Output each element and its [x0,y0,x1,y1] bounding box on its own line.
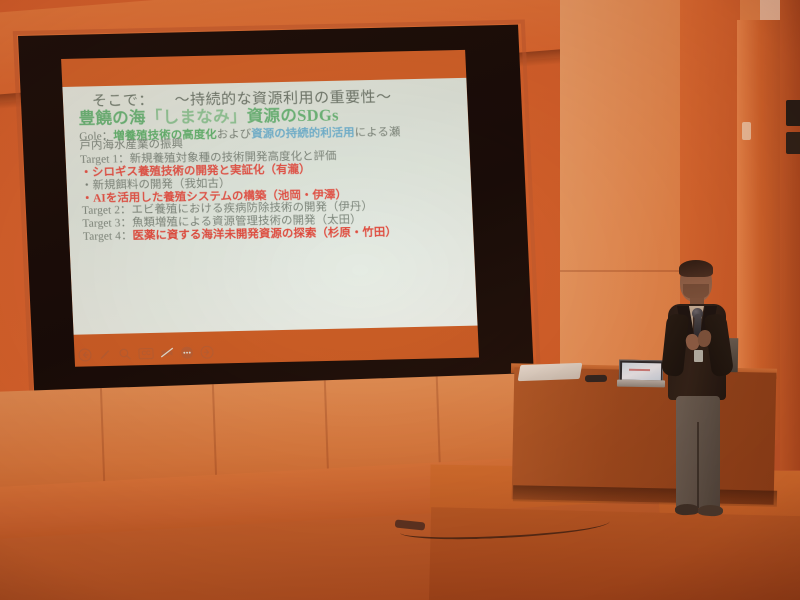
next-slide-icon[interactable] [200,346,214,359]
presenter [650,262,760,522]
wall-plate [742,122,751,140]
slide: そこで： 〜持続的な資源利用の重要性〜 豊饒の海「しまなみ」資源のSDGs Go… [62,78,477,335]
heading2-quote-close: 」 [230,107,248,126]
wall-speaker-lower [786,132,800,154]
closed-laptop [518,363,583,381]
projected-image: そこで： 〜持続的な資源利用の重要性〜 豊饒の海「しまなみ」資源のSDGs Go… [61,50,479,367]
wall-speaker [786,100,800,126]
camera-off-icon[interactable] [160,346,174,359]
presenter-leg-separation [697,422,699,508]
target-text: 医薬に資する海洋未開発資源の探索（杉原・竹田） [132,227,397,243]
heading2-part-3: 資源のSDGs [246,105,339,125]
pen-icon[interactable] [98,348,112,361]
heading2-part-1: 豊饒の海 [78,108,146,128]
more-options-icon[interactable] [180,346,194,359]
target-label: Target 3： [82,218,132,231]
goal-blue-text: 資源の持続的利活用 [251,127,355,140]
closed-captions-icon[interactable]: CC [138,348,153,359]
heading2-part-2: しまなみ [162,107,230,127]
wall-column-far [780,0,800,470]
lecture-hall-scene: そこで： 〜持続的な資源利用の重要性〜 豊饒の海「しまなみ」資源のSDGs Go… [0,0,800,600]
presenter-shoe-left [675,503,700,516]
target-text: 新規餌料の開発（我如古） [92,177,230,191]
slide-heading-2: 豊饒の海「しまなみ」資源のSDGs [78,106,457,128]
slide-target-row: Target 4：医薬に資する海洋未開発資源の探索（杉原・竹田） [83,227,462,244]
desk-accessory [585,375,607,382]
presenter-hair [679,260,713,277]
zoom-icon[interactable] [118,347,132,360]
target-label: Target 1： [80,153,130,166]
target-label: ・ [81,179,93,191]
target-label: ・ [80,167,92,179]
presentation-toolbar[interactable]: CC [78,346,214,362]
presenter-face-shadow [683,284,709,299]
presenter-shoe-right [698,504,724,517]
target-label: Target 2： [82,205,132,218]
target-label: Target 4： [83,230,133,243]
target-text: シロギス養殖技術の開発と実証化（有瀧） [92,163,311,178]
previous-slide-icon[interactable] [78,348,92,361]
presenter-name-badge [694,350,703,362]
target-label: ・ [81,192,93,204]
goal-tail-text: による瀬 [355,126,401,139]
goal-mid-text: および [217,128,252,140]
heading2-quote-open: 「 [145,108,163,127]
projection-screen: そこで： 〜持続的な資源利用の重要性〜 豊饒の海「しまなみ」資源のSDGs Go… [18,24,555,407]
